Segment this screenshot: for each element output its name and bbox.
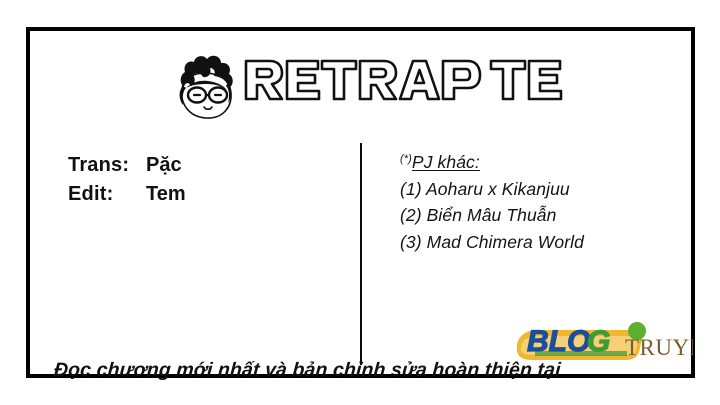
staff-row: Edit: Tem (68, 180, 186, 209)
staff-name-value: Tem (146, 180, 186, 209)
asterisk-marker: (*) (400, 153, 412, 165)
list-item: (3) Mad Chimera World (400, 229, 584, 256)
page-title (242, 53, 567, 146)
other-projects-heading-text: PJ khác: (412, 152, 480, 172)
staff-credits: Trans: Pặc Edit: Tem (68, 151, 186, 209)
staff-row: Trans: Pặc (68, 151, 186, 180)
footer-note: Đọc chương mới nhất và bản chỉnh sửa hoà… (53, 359, 561, 382)
blogtruyen-logo[interactable]: BLO G TRUYỆN (513, 318, 693, 370)
other-projects-list: (*)PJ khác: (1) Aoharu x Kikanjuu (2) Bi… (400, 149, 584, 255)
list-item: (1) Aoharu x Kikanjuu (400, 176, 584, 203)
logo-truyen: TRUYỆN (625, 335, 693, 360)
chibi-face-with-glasses-icon (170, 53, 242, 123)
header-block (170, 45, 570, 130)
logo-blog-green: G (587, 325, 610, 358)
staff-role-label: Edit: (68, 180, 146, 209)
list-item: (2) Biển Mâu Thuẫn (400, 202, 584, 229)
staff-role-label: Trans: (68, 151, 146, 180)
logo-blog-blue: BLO (527, 325, 590, 358)
staff-name-value: Pặc (146, 151, 182, 180)
column-divider (360, 143, 362, 365)
other-projects-heading: (*)PJ khác: (400, 149, 584, 176)
